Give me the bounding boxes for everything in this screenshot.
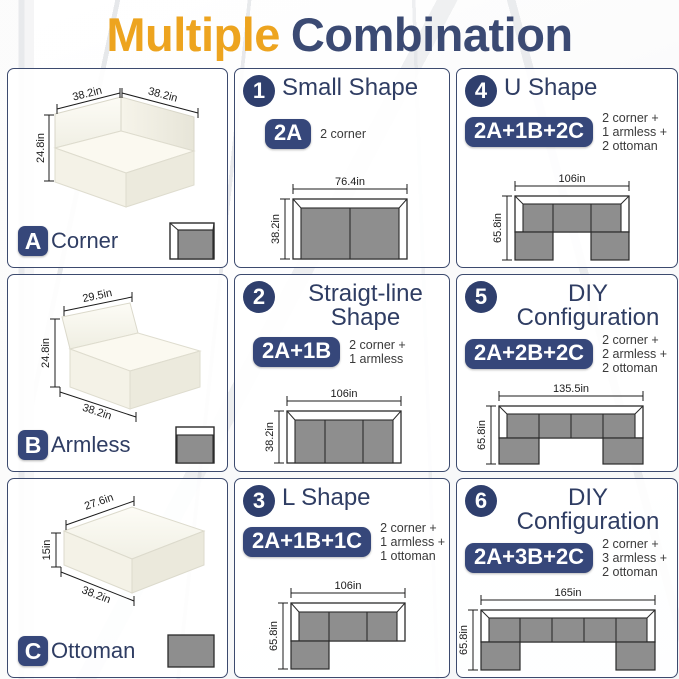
combo-number-badge-4: 4 <box>465 75 497 107</box>
corner-thumbnail <box>169 222 215 260</box>
combo-6-header: 6 DIY Configuration <box>457 479 677 535</box>
combo-part-line: 3 armless + <box>602 551 667 565</box>
combination-card-3: 3 L Shape 2A+1B+1C 2 corner + 1 armless … <box>234 478 450 678</box>
combo-2-width-label: 106in <box>331 388 358 400</box>
module-name-ottoman: Ottoman <box>51 638 135 664</box>
combination-card-2: 2 Straigt-line Shape 2A+1B 2 corner + 1 … <box>234 274 450 472</box>
module-name-corner: Corner <box>51 228 118 254</box>
combo-part-line: 2 corner <box>320 127 366 141</box>
combo-6-width-label: 165in <box>555 587 582 599</box>
combo-code-badge-4: 2A+1B+2C <box>465 117 593 147</box>
corner-illustration: 38.2in 38.2in 24.8in <box>8 69 228 223</box>
corner-dim-top-left: 38.2in <box>71 85 103 104</box>
combo-part-line: 1 armless <box>349 352 406 366</box>
combo-3-diagram: 106in 65.8in <box>235 579 449 675</box>
combo-5-width-label: 135.5in <box>553 383 589 395</box>
module-letter-badge-c: C <box>18 636 48 666</box>
combo-6-height-label: 65.8in <box>458 625 470 655</box>
combo-3-width-label: 106in <box>335 580 362 592</box>
combo-part-line: 2 ottoman <box>602 565 667 579</box>
combo-2-diagram: 106in 38.2in <box>235 387 449 469</box>
combo-3-header: 3 L Shape <box>235 479 449 517</box>
ottoman-dim-height: 15in <box>41 540 53 561</box>
armless-dim-height: 24.8in <box>40 338 52 368</box>
combo-part-line: 1 armless + <box>602 125 667 139</box>
combo-1-diagram: 76.4in 38.2in <box>235 175 449 265</box>
combo-3-height-label: 65.8in <box>268 621 280 651</box>
combo-part-line: 1 armless + <box>380 535 445 549</box>
combination-card-1: 1 Small Shape 2A 2 corner 76.4in 38.2in <box>234 68 450 268</box>
corner-footer: A Corner <box>18 219 219 263</box>
combo-part-line: 2 corner + <box>602 537 667 551</box>
combo-code-badge-1: 2A <box>265 119 311 149</box>
combo-number-badge-2: 2 <box>243 281 275 313</box>
module-name-armless: Armless <box>51 432 130 458</box>
module-card-corner: 38.2in 38.2in 24.8in A Corner <box>7 68 228 268</box>
combo-part-line: 2 armless + <box>602 347 667 361</box>
corner-photo-area: 38.2in 38.2in 24.8in <box>8 69 227 221</box>
combo-4-code-row: 2A+1B+2C 2 corner + 1 armless + 2 ottoma… <box>457 107 677 153</box>
combo-title-5: DIY Configuration <box>499 281 677 331</box>
combo-title-1: Small Shape <box>282 75 418 100</box>
module-card-armless: 29.5in 24.8in 38.2in B Armless <box>7 274 228 472</box>
page-title: Multiple Combination <box>0 2 679 66</box>
combo-number-badge-6: 6 <box>465 485 497 517</box>
combo-title-3: L Shape <box>282 485 371 510</box>
module-card-ottoman: 27.6in 15in 38.2in C Ottoman <box>7 478 228 678</box>
combo-3-code-row: 2A+1B+1C 2 corner + 1 armless + 1 ottoma… <box>235 517 449 563</box>
armless-illustration: 29.5in 24.8in 38.2in <box>8 275 228 427</box>
combo-2-code-row: 2A+1B 2 corner + 1 armless <box>235 331 449 367</box>
combo-number-badge-5: 5 <box>465 281 497 313</box>
combo-parts-4: 2 corner + 1 armless + 2 ottoman <box>602 111 667 153</box>
combo-4-diagram: 106in 65.8in <box>457 173 677 265</box>
combo-title-4: U Shape <box>504 75 597 100</box>
ottoman-thumbnail <box>167 634 215 668</box>
combo-number-badge-1: 1 <box>243 75 275 107</box>
armless-dim-top: 29.5in <box>81 287 113 305</box>
combination-card-4: 4 U Shape 2A+1B+2C 2 corner + 1 armless … <box>456 68 678 268</box>
combo-5-code-row: 2A+2B+2C 2 corner + 2 armless + 2 ottoma… <box>457 331 677 375</box>
armless-photo-area: 29.5in 24.8in 38.2in <box>8 275 227 425</box>
combo-part-line: 2 corner + <box>349 338 406 352</box>
combination-card-5: 5 DIY Configuration 2A+2B+2C 2 corner + … <box>456 274 678 472</box>
armless-dim-bottom: 38.2in <box>81 402 113 423</box>
combo-5-diagram: 135.5in 65.8in <box>457 383 677 469</box>
combo-2-height-label: 38.2in <box>264 422 276 452</box>
combo-code-badge-3: 2A+1B+1C <box>243 527 371 557</box>
combo-1-code-row: 2A 2 corner <box>235 107 449 149</box>
combo-code-badge-5: 2A+2B+2C <box>465 339 593 369</box>
combo-title-6: DIY Configuration <box>499 485 677 535</box>
corner-dim-height: 24.8in <box>35 133 47 163</box>
combo-part-line: 2 corner + <box>602 111 667 125</box>
combo-4-width-label: 106in <box>559 173 586 185</box>
ottoman-footer: C Ottoman <box>18 629 219 673</box>
title-word-multiple: Multiple <box>106 7 280 62</box>
ottoman-photo-area: 27.6in 15in 38.2in <box>8 479 227 631</box>
combo-parts-2: 2 corner + 1 armless <box>349 338 406 366</box>
combo-4-header: 4 U Shape <box>457 69 677 107</box>
combo-title-2: Straigt-line Shape <box>282 281 449 331</box>
armless-thumbnail <box>175 426 215 464</box>
armless-footer: B Armless <box>18 423 219 467</box>
ottoman-illustration: 27.6in 15in 38.2in <box>8 479 228 633</box>
combination-card-6: 6 DIY Configuration 2A+3B+2C 2 corner + … <box>456 478 678 678</box>
module-letter-badge-b: B <box>18 430 48 460</box>
layout-grid: 38.2in 38.2in 24.8in A Corner <box>7 68 672 672</box>
title-word-combination: Combination <box>291 7 573 62</box>
combo-5-header: 5 DIY Configuration <box>457 275 677 331</box>
combo-parts-5: 2 corner + 2 armless + 2 ottoman <box>602 333 667 375</box>
combo-2-header: 2 Straigt-line Shape <box>235 275 449 331</box>
combo-part-line: 2 corner + <box>380 521 445 535</box>
corner-dim-top-right: 38.2in <box>147 85 179 104</box>
combo-part-line: 1 ottoman <box>380 549 445 563</box>
combo-part-line: 2 ottoman <box>602 139 667 153</box>
module-letter-badge-a: A <box>18 226 48 256</box>
combo-4-height-label: 65.8in <box>492 213 504 243</box>
combo-code-badge-2: 2A+1B <box>253 337 340 367</box>
combo-parts-6: 2 corner + 3 armless + 2 ottoman <box>602 537 667 579</box>
combo-1-header: 1 Small Shape <box>235 69 449 107</box>
combo-part-line: 2 corner + <box>602 333 667 347</box>
combo-part-line: 2 ottoman <box>602 361 667 375</box>
combo-parts-1: 2 corner <box>320 127 366 141</box>
combo-6-code-row: 2A+3B+2C 2 corner + 3 armless + 2 ottoma… <box>457 535 677 579</box>
combo-number-badge-3: 3 <box>243 485 275 517</box>
combo-1-width-label: 76.4in <box>335 176 365 188</box>
combo-code-badge-6: 2A+3B+2C <box>465 543 593 573</box>
ottoman-dim-bottom: 38.2in <box>80 584 112 606</box>
combo-parts-3: 2 corner + 1 armless + 1 ottoman <box>380 521 445 563</box>
combo-5-height-label: 65.8in <box>476 420 488 450</box>
combo-1-height-label: 38.2in <box>270 214 282 244</box>
combo-6-diagram: 165in 65.8in <box>457 587 677 675</box>
